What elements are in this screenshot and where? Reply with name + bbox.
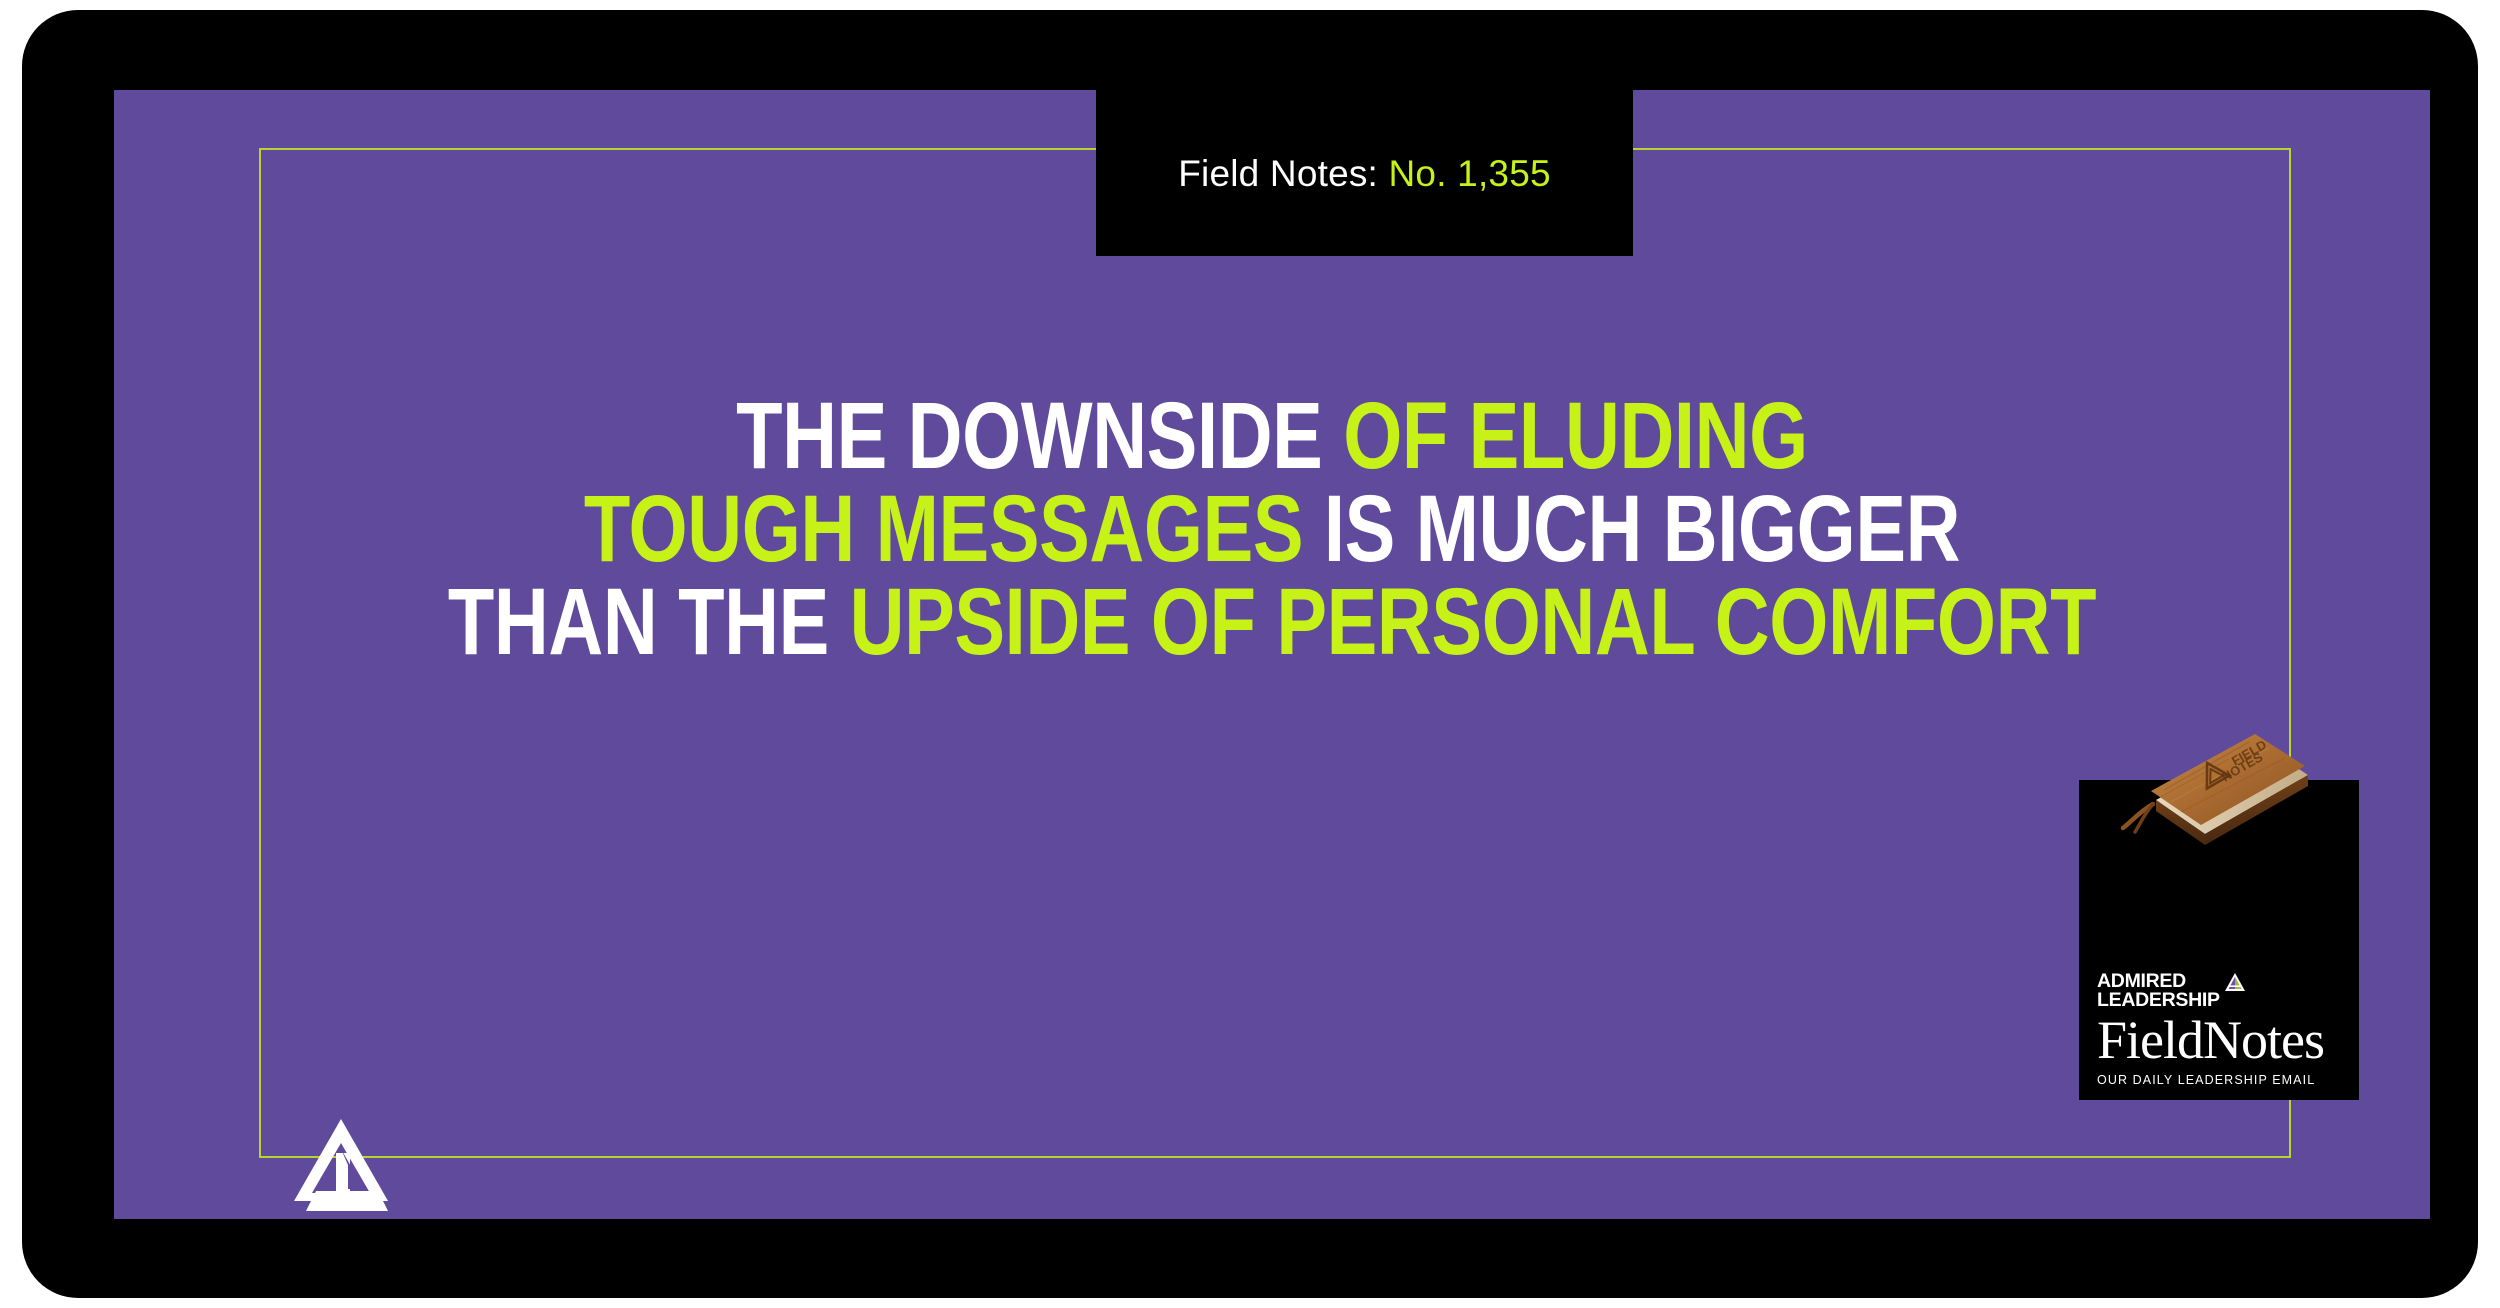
- headline-segment: IS MUCH BIGGER: [1324, 476, 1960, 582]
- slide-canvas: Field Notes: No. 1,355 THE DOWNSIDE OF E…: [114, 90, 2430, 1219]
- headline-segment: THAN THE: [448, 569, 850, 675]
- admired-leadership-wordmark: ADMIRED LEADERSHIP: [2097, 972, 2220, 1010]
- admired-leadership-logo: ADMIRED LEADERSHIP: [2097, 972, 2341, 1010]
- headline-line-2: TOUGH MESSAGES IS MUCH BIGGER: [346, 483, 2199, 576]
- header-issue-number: No. 1,355: [1389, 153, 1551, 194]
- promo-tagline: OUR DAILY LEADERSHIP EMAIL: [2097, 1073, 2341, 1087]
- headline-block: THE DOWNSIDE OF ELUDING TOUGH MESSAGES I…: [346, 390, 2199, 669]
- fieldnotes-wordmark: FieldNotes: [2097, 1012, 2341, 1068]
- triangle-logo-icon: [2224, 972, 2246, 992]
- admired-leadership-monogram-icon: [292, 1113, 390, 1217]
- device-frame: Field Notes: No. 1,355 THE DOWNSIDE OF E…: [22, 10, 2478, 1298]
- headline-line-3: THAN THE UPSIDE OF PERSONAL COMFORT: [346, 576, 2199, 669]
- fieldnotes-promo-card: ADMIRED LEADERSHIP FieldNotes OUR DAILY …: [2079, 780, 2359, 1100]
- header-banner-text: Field Notes: No. 1,355: [1178, 155, 1551, 192]
- header-label: Field Notes:: [1178, 153, 1378, 194]
- headline-line-1: THE DOWNSIDE OF ELUDING: [346, 390, 2199, 483]
- notebook-label-line-1: FIELD: [2229, 737, 2269, 769]
- header-banner: Field Notes: No. 1,355: [1096, 90, 1633, 256]
- headline-segment: UPSIDE OF PERSONAL COMFORT: [850, 569, 2097, 675]
- headline-segment: THE DOWNSIDE: [736, 383, 1343, 489]
- leadership-word: LEADERSHIP: [2097, 991, 2220, 1010]
- headline-segment: TOUGH MESSAGES: [584, 476, 1324, 582]
- headline-segment: OF ELUDING: [1343, 383, 1808, 489]
- promo-lockup: ADMIRED LEADERSHIP FieldNotes OUR DAILY …: [2097, 972, 2341, 1087]
